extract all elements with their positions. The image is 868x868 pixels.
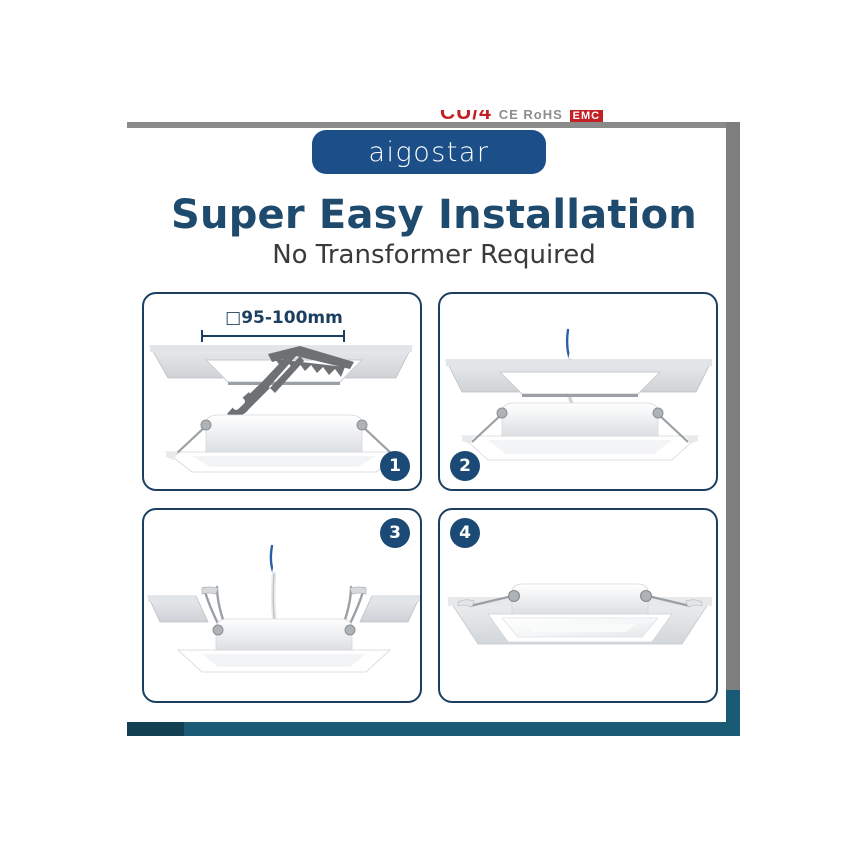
- page-title: Super Easy Installation: [0, 192, 868, 238]
- step-card-1: □95-100mm 1: [142, 292, 422, 491]
- step-badge-4: 4: [450, 518, 480, 548]
- ceiling-slab-right: [360, 596, 420, 622]
- dimension-arrow: [202, 330, 344, 342]
- infographic-canvas: CU/4 CE RoHS EMC aigostar Super Easy Ins…: [0, 0, 868, 868]
- brand-logo-text: aigostar: [368, 137, 489, 168]
- top-gray-bar: [127, 122, 740, 128]
- ceiling-slab-left: [148, 596, 208, 622]
- step-badge-2: 2: [450, 451, 480, 481]
- downlight-fixture: [166, 415, 402, 472]
- cert-sub: CE RoHS: [499, 110, 563, 122]
- bottom-teal-bar-dark: [127, 722, 184, 736]
- step-card-4: 4: [438, 508, 718, 703]
- page-subtitle: No Transformer Required: [0, 240, 868, 270]
- step-badge-3: 3: [380, 518, 410, 548]
- step-card-3: 3: [142, 508, 422, 703]
- cert-badge: EMC: [570, 110, 603, 122]
- step-4-illustration: [440, 510, 718, 703]
- step-2-illustration: [440, 294, 718, 491]
- step-badge-1: 1: [380, 451, 410, 481]
- downlight-fixture: [462, 403, 698, 460]
- dimension-label: □95-100mm: [144, 308, 422, 328]
- ceiling-slab: [446, 360, 712, 397]
- cert-text: CU/4: [440, 110, 492, 122]
- power-cable: [271, 544, 275, 622]
- certification-strip: CU/4 CE RoHS EMC: [440, 110, 620, 122]
- downlight-fixture: [178, 619, 390, 672]
- step-card-2: 2: [438, 292, 718, 491]
- bottom-teal-bar: [127, 722, 740, 736]
- brand-logo: aigostar: [312, 130, 546, 174]
